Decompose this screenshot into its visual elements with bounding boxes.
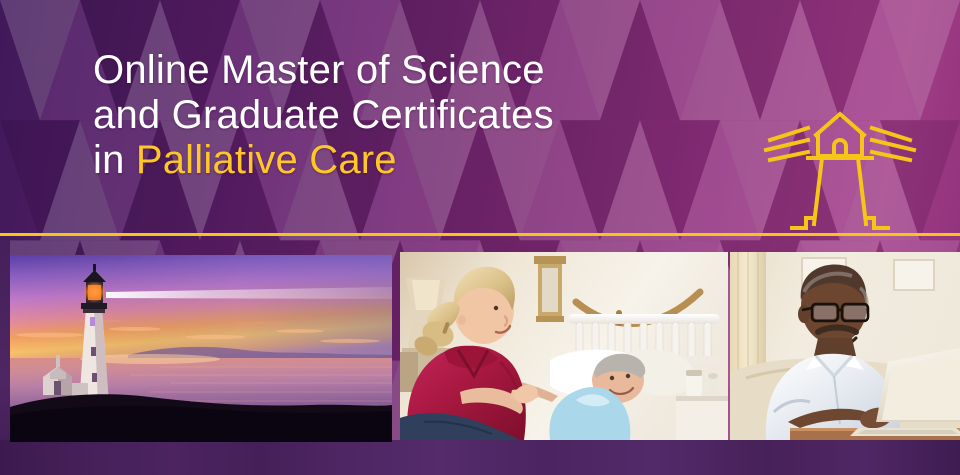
nurse-patient-photo [400, 252, 728, 440]
bottom-purple-band [0, 440, 960, 475]
banner-headline: Online Master of Science and Graduate Ce… [93, 48, 733, 183]
palliative-care-banner: Online Master of Science and Graduate Ce… [0, 0, 960, 475]
lighthouse-sunset-photo [10, 255, 392, 442]
man-laptop-photo [730, 252, 960, 440]
headline-line-2: and Graduate Certificates [93, 93, 733, 138]
gold-divider-rule [0, 233, 960, 236]
headline-line-3-prefix: in [93, 138, 136, 182]
headline-line-1: Online Master of Science [93, 48, 733, 93]
headline-accent-text: Palliative Care [136, 138, 397, 182]
headline-line-3: in Palliative Care [93, 138, 733, 183]
lighthouse-icon [760, 100, 920, 240]
